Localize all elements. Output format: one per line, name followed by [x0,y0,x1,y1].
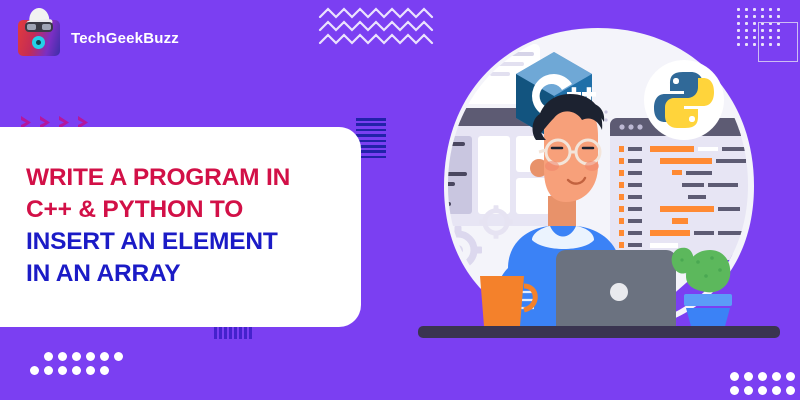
laptop-icon [556,250,676,328]
headline-line-2: C++ & Python to [26,194,356,226]
banner-root: TechGeekBuzz Write a program in C++ & Py… [0,0,800,400]
python-logo-icon [644,60,724,140]
techgeekbuzz-logo-icon [18,20,60,56]
grid-dot [86,352,95,361]
grid-dot [44,352,53,361]
grid-dot [58,352,67,361]
grid-dot [44,366,53,375]
goggles-shape [25,22,53,32]
hatch-line [356,134,386,137]
grid-dot [114,352,123,361]
eye-dot-shape [32,36,45,49]
hatch-line [356,140,386,143]
developer-at-laptop-illustration [398,0,800,400]
headline-line-1: Write a program in [26,162,356,194]
grid-dot [72,352,81,361]
grid-dot [100,352,109,361]
grid-dot [100,366,109,375]
headline-line-4: in an Array [26,258,356,290]
grid-dot [58,366,67,375]
brand-logo[interactable]: TechGeekBuzz [18,20,179,56]
hatch-line [356,123,386,126]
headline-line-3: Insert an element [26,226,356,258]
grid-dot [72,366,81,375]
dot-row-icon-bottom-left [30,352,116,378]
brand-name: TechGeekBuzz [71,30,179,47]
desk-icon [418,326,780,338]
grid-dot [86,366,95,375]
grid-dot [30,366,39,375]
hatch-line [356,129,386,132]
page-title: Write a program in C++ & Python to Inser… [26,162,356,290]
hatch-line [356,118,386,121]
